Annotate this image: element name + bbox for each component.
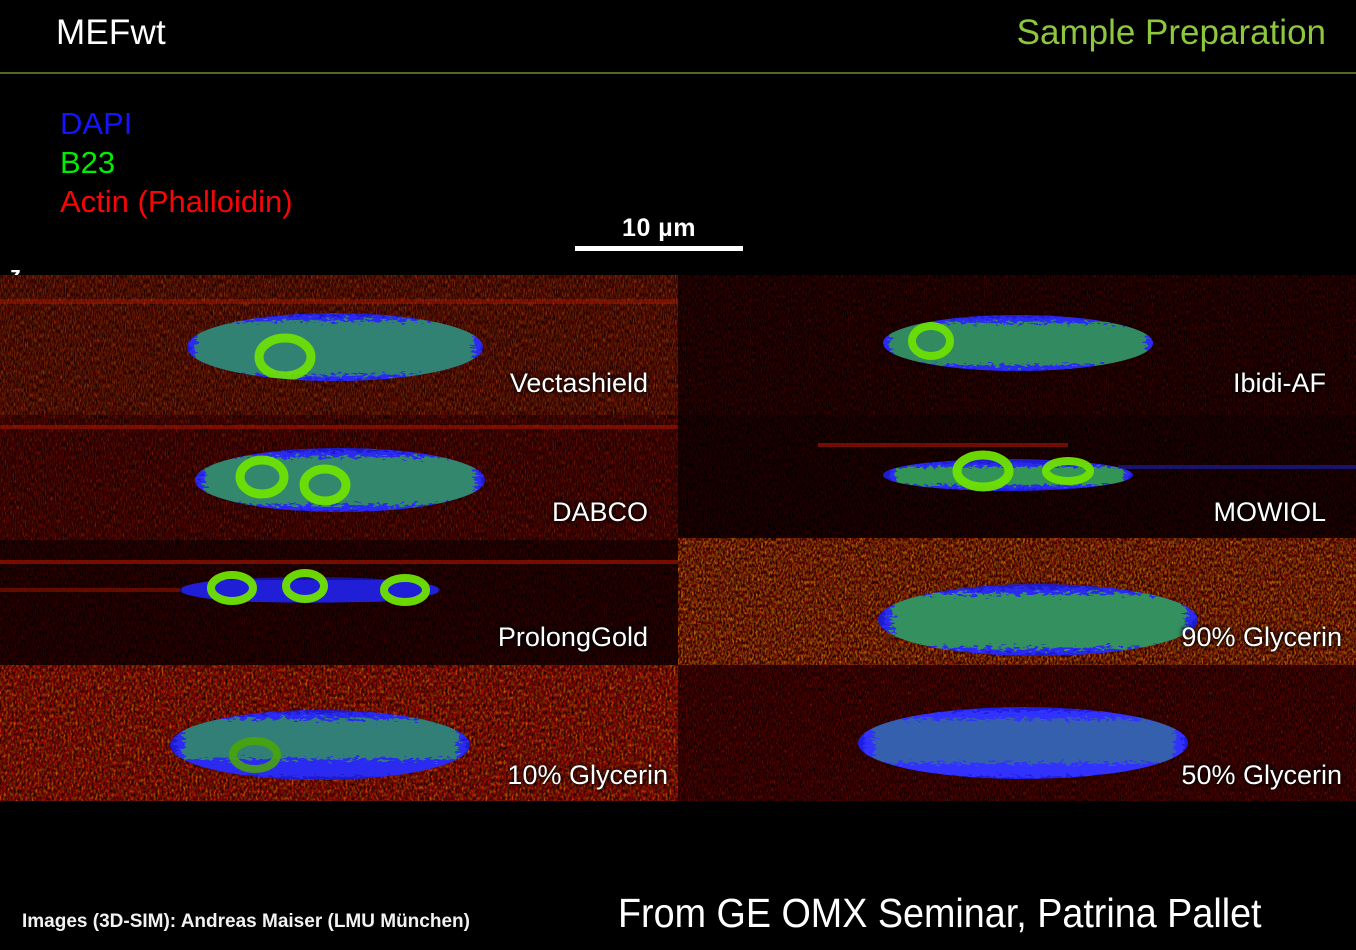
panel-10-glycerin[interactable]: 10% Glycerin: [0, 665, 678, 801]
scale-bar: 10 µm: [575, 214, 743, 251]
legend-item-actin: Actin (Phalloidin): [60, 182, 293, 221]
panel-dabco[interactable]: DABCO: [0, 415, 678, 540]
panel-label: ProlongGold: [498, 622, 648, 653]
panel-label: Ibidi-AF: [1233, 368, 1326, 399]
panel-label: 10% Glycerin: [507, 760, 668, 791]
page-title: MEFwt: [56, 13, 166, 53]
slide-header: MEFwt Sample Preparation: [0, 0, 1356, 74]
panel-label: MOWIOL: [1214, 497, 1327, 528]
scale-bar-line: [575, 246, 743, 251]
panel-prolonggold[interactable]: ProlongGold: [0, 540, 678, 665]
scale-bar-label: 10 µm: [575, 214, 743, 243]
panel-ibidi-af[interactable]: Ibidi-AF: [678, 275, 1356, 415]
panel-mowiol[interactable]: MOWIOL: [678, 415, 1356, 540]
channel-legend: DAPI B23 Actin (Phalloidin): [60, 104, 293, 221]
panel-label: 90% Glycerin: [1181, 622, 1342, 653]
panel-label: 50% Glycerin: [1181, 760, 1342, 791]
micrograph-grid: Vectashield: [0, 275, 1356, 801]
section-title: Sample Preparation: [1017, 13, 1326, 53]
legend-item-dapi: DAPI: [60, 104, 293, 143]
source-attribution: From GE OMX Seminar, Patrina Pallet: [618, 890, 1262, 937]
image-credit: Images (3D-SIM): Andreas Maiser (LMU Mün…: [22, 911, 470, 933]
panel-label: Vectashield: [510, 368, 648, 399]
legend-item-b23: B23: [60, 143, 293, 182]
panel-50-glycerin[interactable]: 50% Glycerin: [678, 665, 1356, 801]
panel-90-glycerin[interactable]: 90% Glycerin: [678, 538, 1356, 665]
panel-vectashield[interactable]: Vectashield: [0, 275, 678, 415]
panel-label: DABCO: [552, 497, 648, 528]
